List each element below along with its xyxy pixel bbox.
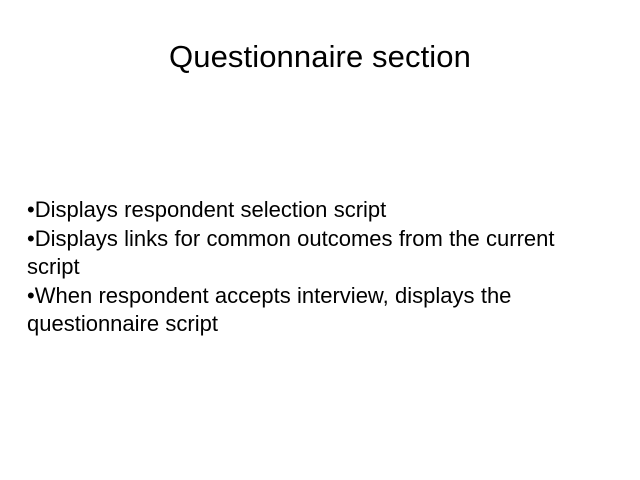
page-title: Questionnaire section bbox=[0, 38, 640, 76]
bullet-point-icon: • bbox=[27, 226, 35, 251]
bullet-point-icon: • bbox=[27, 283, 35, 308]
list-item-label: Displays links for common outcomes from … bbox=[27, 226, 555, 280]
list-item: •When respondent accepts interview, disp… bbox=[27, 282, 607, 339]
list-item: •Displays links for common outcomes from… bbox=[27, 225, 607, 282]
slide-canvas: Questionnaire section •Displays responde… bbox=[0, 0, 640, 480]
bullet-list: •Displays respondent selection script •D… bbox=[27, 196, 607, 339]
bullet-point-icon: • bbox=[27, 197, 35, 222]
list-item-label: When respondent accepts interview, displ… bbox=[27, 283, 511, 337]
list-item-label: Displays respondent selection script bbox=[35, 197, 387, 222]
list-item: •Displays respondent selection script bbox=[27, 196, 607, 225]
